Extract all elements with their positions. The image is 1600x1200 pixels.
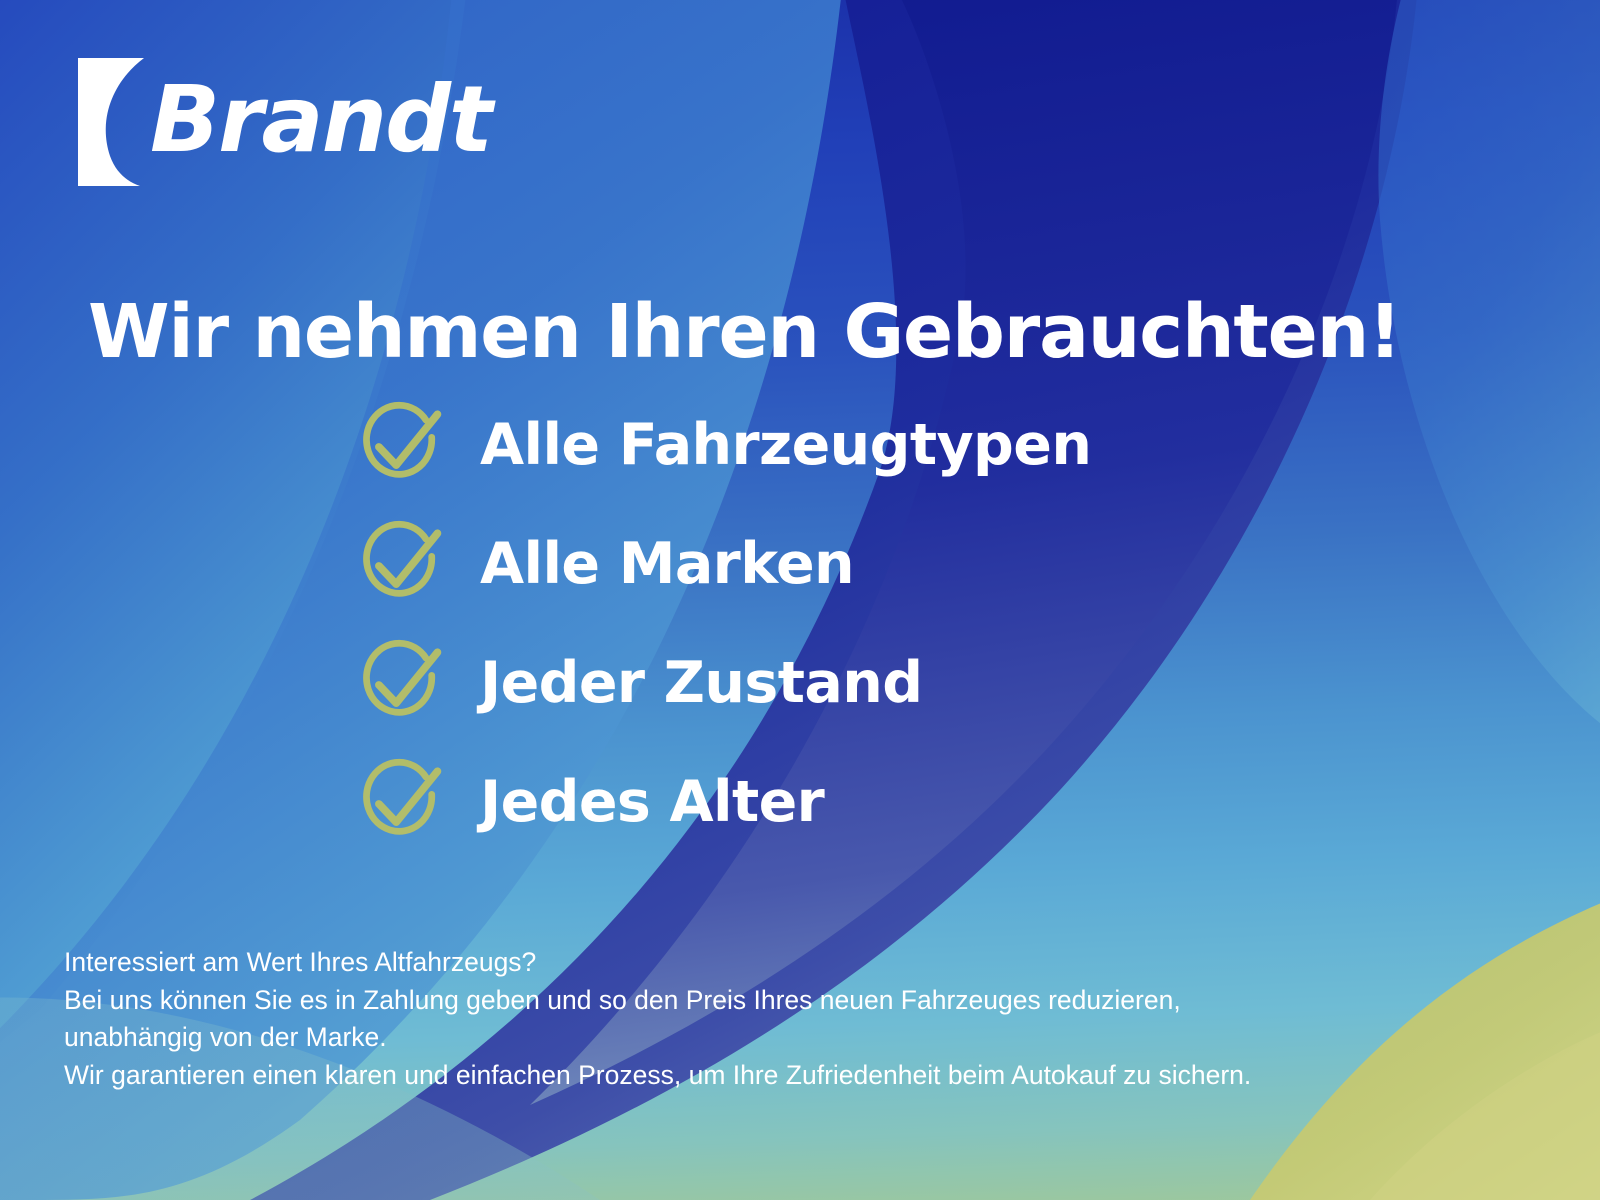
body-copy: Interessiert am Wert Ihres Altfahrzeugs?…	[64, 944, 1251, 1095]
feature-label: Jedes Alter	[480, 774, 824, 831]
feature-label: Alle Marken	[480, 536, 854, 593]
body-copy-line-3: unabhängig von der Marke.	[64, 1019, 1251, 1057]
feature-item: Alle Marken	[352, 515, 1091, 613]
feature-label: Alle Fahrzeugtypen	[480, 417, 1091, 474]
brand-logo[interactable]: Brandt	[76, 56, 491, 188]
feature-item: Jedes Alter	[352, 753, 1091, 851]
check-circle-icon	[352, 397, 448, 493]
bracket-crescent-icon	[76, 56, 146, 188]
check-circle-icon	[352, 754, 448, 850]
promo-banner: Brandt Wir nehmen Ihren Gebrauchten! All…	[0, 0, 1600, 1200]
brand-name: Brandt	[150, 74, 491, 166]
body-copy-line-2: Bei uns können Sie es in Zahlung geben u…	[64, 982, 1251, 1020]
check-circle-icon	[352, 635, 448, 731]
feature-list: Alle Fahrzeugtypen Alle Marken Jeder Zus…	[352, 396, 1091, 851]
feature-item: Jeder Zustand	[352, 634, 1091, 732]
feature-label: Jeder Zustand	[480, 655, 922, 712]
headline: Wir nehmen Ihren Gebrauchten!	[88, 293, 1401, 373]
body-copy-line-1: Interessiert am Wert Ihres Altfahrzeugs?	[64, 944, 1251, 982]
check-circle-icon	[352, 516, 448, 612]
feature-item: Alle Fahrzeugtypen	[352, 396, 1091, 494]
body-copy-line-4: Wir garantieren einen klaren und einfach…	[64, 1057, 1251, 1095]
